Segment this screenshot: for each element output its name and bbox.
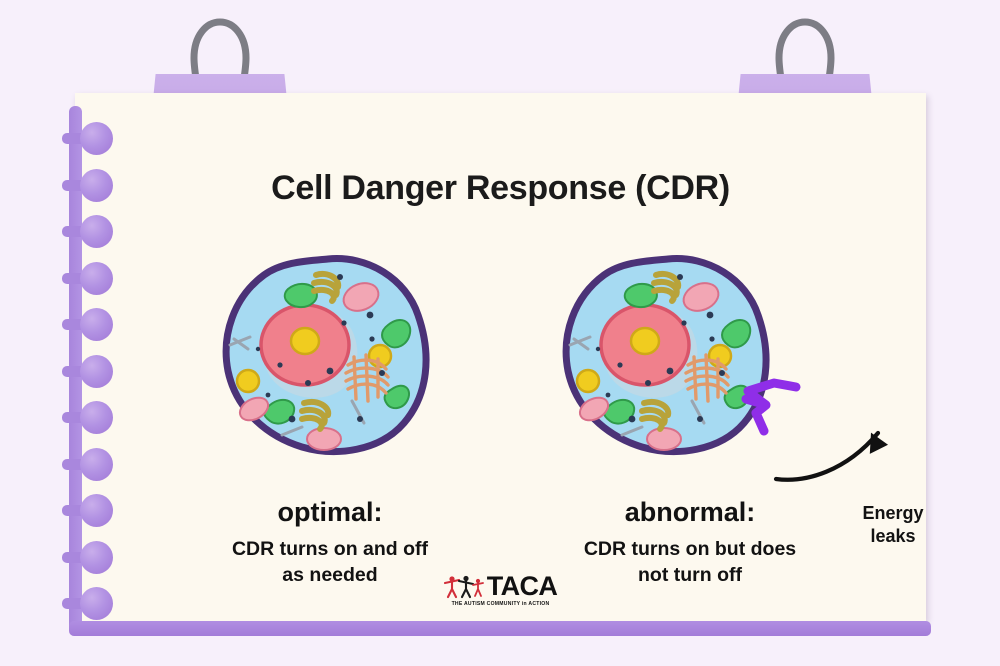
energy-leaks-arrow-icon <box>770 371 920 486</box>
panel-optimal: optimal: CDR turns on and off as needed <box>160 253 500 588</box>
binder-bottom-bar <box>69 621 931 636</box>
binder-ring-dot <box>80 355 113 388</box>
energy-leaks-line-1: Energy <box>823 502 963 525</box>
caption-line-1: CDR turns on and off <box>160 536 500 562</box>
binder-ring-dot <box>80 541 113 574</box>
caption-heading: optimal: <box>160 497 500 528</box>
binder-ring <box>62 169 113 202</box>
binder-ring <box>62 541 113 574</box>
binder-ring <box>62 355 113 388</box>
caption-line-1: CDR turns on but does <box>520 536 860 562</box>
binder-ring <box>62 215 113 248</box>
binder-ring <box>62 401 113 434</box>
binder-ring-dot <box>80 587 113 620</box>
energy-leaks-label: Energy leaks <box>823 502 963 549</box>
binder-ring-dot <box>80 215 113 248</box>
binder-ring <box>62 587 113 620</box>
binder-ring <box>62 494 113 527</box>
energy-leaks-line-2: leaks <box>823 525 963 548</box>
binder-ring-dot <box>80 169 113 202</box>
binder-ring <box>62 448 113 481</box>
taca-wordmark: TACA <box>487 574 558 600</box>
binder-ring-dot <box>80 262 113 295</box>
taca-tagline: THE AUTISM COMMUNITY in ACTION <box>452 601 550 607</box>
cell-icon <box>220 253 440 458</box>
binder-ring <box>62 122 113 155</box>
page-title: Cell Danger Response (CDR) <box>75 169 926 208</box>
binder-ring <box>62 308 113 341</box>
binder-ring-dot <box>80 401 113 434</box>
cell-illustration-optimal <box>160 253 500 463</box>
binder-ring-dot <box>80 494 113 527</box>
taca-figures-icon <box>444 575 484 599</box>
binder-ring <box>62 262 113 295</box>
poster-card: Cell Danger Response (CDR) <box>75 93 926 621</box>
binder-ring-dot <box>80 122 113 155</box>
taca-logo[interactable]: TACA THE AUTISM COMMUNITY in ACTION <box>75 574 926 607</box>
binder-ring-dot <box>80 448 113 481</box>
caption-heading: abnormal: <box>520 497 860 528</box>
poster-canvas: Cell Danger Response (CDR) <box>0 0 1000 666</box>
binder-ring-dot <box>80 308 113 341</box>
